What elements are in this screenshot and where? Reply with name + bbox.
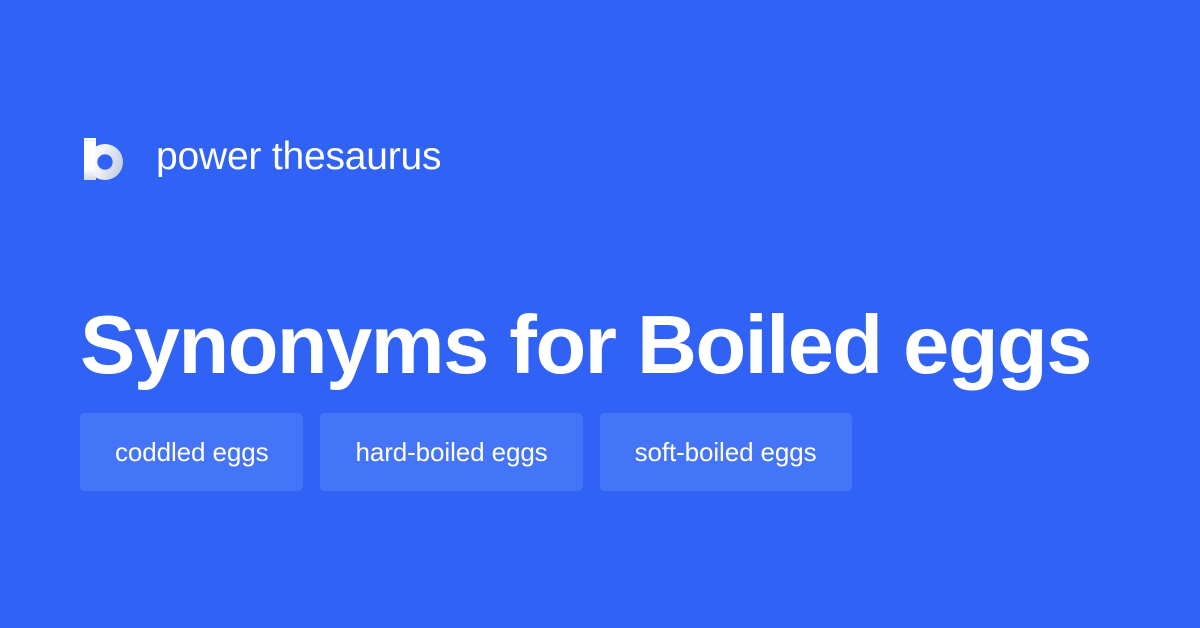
synonym-chip-label: soft-boiled eggs [635, 439, 817, 465]
synonym-chip-label: coddled eggs [115, 439, 268, 465]
synonym-chip-list: coddled eggs hard-boiled eggs soft-boile… [80, 413, 1140, 491]
power-thesaurus-b-logo-icon [80, 132, 126, 180]
synonym-chip[interactable]: hard-boiled eggs [320, 413, 582, 491]
synonym-chip[interactable]: coddled eggs [80, 413, 303, 491]
synonym-chip[interactable]: soft-boiled eggs [600, 413, 852, 491]
share-card: power thesaurus Synonyms for Boiled eggs… [0, 0, 1200, 628]
synonym-chip-label: hard-boiled eggs [355, 439, 547, 465]
page-title: Synonyms for Boiled eggs [80, 301, 1140, 388]
brand-name: power thesaurus [156, 137, 441, 176]
brand-lockup[interactable]: power thesaurus [80, 128, 441, 184]
